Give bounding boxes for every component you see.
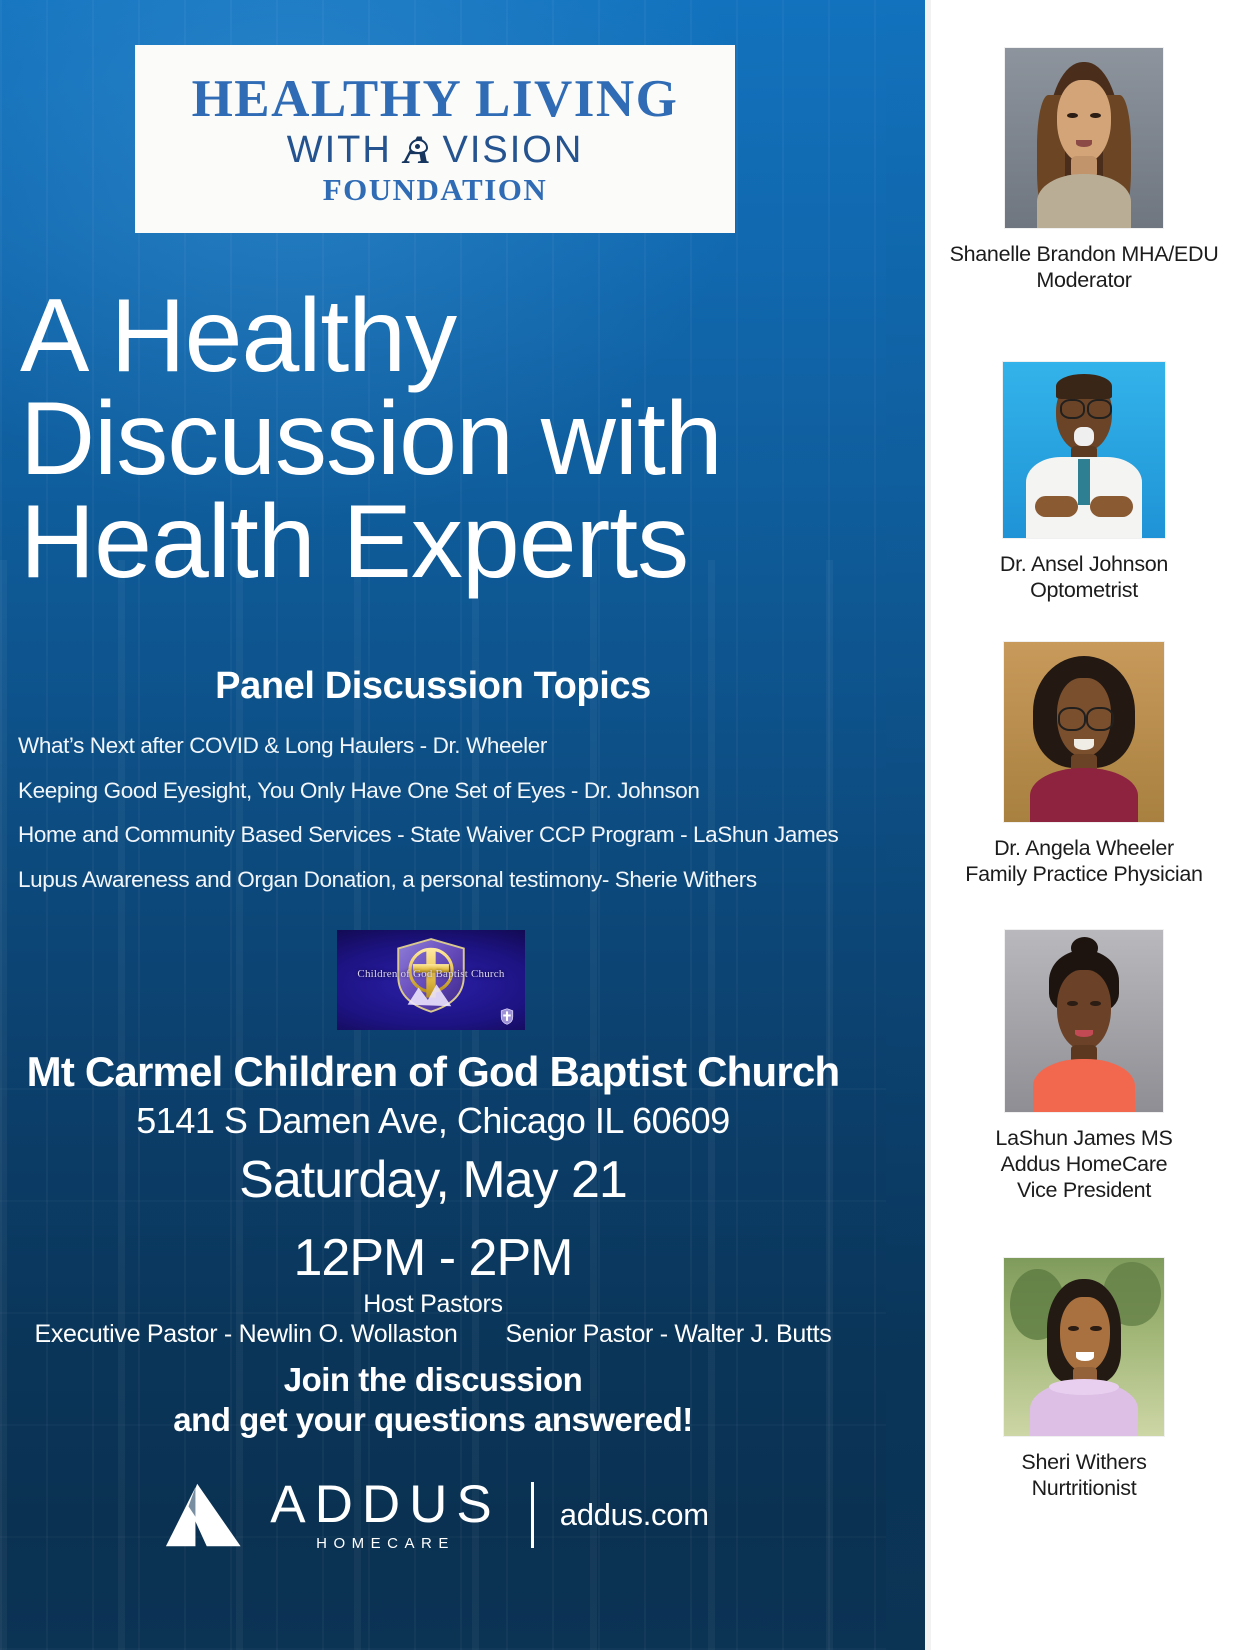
venue-name: Mt Carmel Children of God Baptist Church	[0, 1048, 866, 1096]
panelist-name: Dr. Angela Wheeler Family Practice Physi…	[931, 835, 1237, 887]
sponsor-wordmark: ADDUS HOMECARE	[261, 1478, 501, 1551]
page-title: A Healthy Discussion with Health Experts	[20, 285, 860, 594]
addus-triangle-icon	[157, 1482, 253, 1548]
venue-address: 5141 S Damen Ave, Chicago IL 60609	[0, 1100, 866, 1142]
panelist-name-text: Dr. Ansel Johnson	[931, 551, 1237, 577]
senior-pastor: Senior Pastor - Walter J. Butts	[506, 1320, 832, 1349]
headline-line-2: Discussion with	[20, 388, 860, 491]
panelist-role-line2: Vice President	[931, 1177, 1237, 1203]
avatar	[1004, 1258, 1164, 1436]
topic-item: Lupus Awareness and Organ Donation, a pe…	[18, 869, 868, 892]
avatar	[1005, 930, 1163, 1112]
sponsor-url[interactable]: addus.com	[560, 1497, 709, 1533]
panelist-name: Dr. Ansel Johnson Optometrist	[931, 551, 1237, 603]
sponsor-logo: ADDUS HOMECARE addus.com	[0, 1478, 866, 1551]
panelist-name-text: Dr. Angela Wheeler	[931, 835, 1237, 861]
sidebar-accent-strip	[886, 0, 925, 1650]
panelist-role-text: Optometrist	[931, 577, 1237, 603]
avatar	[1005, 48, 1163, 228]
panelist-name: LaShun James MS Addus HomeCare Vice Pres…	[931, 1125, 1237, 1204]
cta-line-1: Join the discussion	[0, 1360, 866, 1400]
event-flyer: HEALTHY LIVING WITH A VISION FOUNDATION …	[0, 0, 1237, 1650]
sponsor-tagline: HOMECARE	[307, 1536, 455, 1551]
church-logo: Children of God Baptist Church	[337, 930, 525, 1030]
headline-discussion: Discussion	[20, 381, 513, 497]
panelists-sidebar: Shanelle Brandon MHA/EDU Moderator	[886, 0, 1237, 1650]
sponsor-divider	[531, 1482, 534, 1548]
panelist-role-text: Nurtritionist	[931, 1475, 1237, 1501]
avatar	[1004, 642, 1164, 822]
eye-a-icon: A	[402, 130, 433, 170]
panelist-role-text: Moderator	[931, 267, 1237, 293]
panelist-card: Dr. Angela Wheeler Family Practice Physi…	[931, 642, 1237, 887]
church-small-shield-icon	[500, 1008, 514, 1025]
panelist-name: Sheri Withers Nurtritionist	[931, 1449, 1237, 1501]
topic-item: What’s Next after COVID & Long Haulers -…	[18, 735, 868, 758]
panelist-name: Shanelle Brandon MHA/EDU Moderator	[931, 241, 1237, 293]
headline-with: with	[541, 381, 722, 497]
foundation-logo-line3: FOUNDATION	[323, 174, 548, 205]
cta-line-2: and get your questions answered!	[0, 1400, 866, 1440]
panelist-role-text: Family Practice Physician	[931, 861, 1237, 887]
call-to-action: Join the discussion and get your questio…	[0, 1360, 866, 1439]
church-logo-name: Children of God Baptist Church	[337, 968, 525, 980]
executive-pastor: Executive Pastor - Newlin O. Wollaston	[34, 1320, 457, 1349]
foundation-logo-line2: WITH A VISION	[287, 130, 584, 170]
panelist-name-text: LaShun James MS	[931, 1125, 1237, 1151]
topic-item: Keeping Good Eyesight, You Only Have One…	[18, 780, 868, 803]
topics-heading: Panel Discussion Topics	[0, 665, 866, 708]
host-pastors-label: Host Pastors	[0, 1290, 866, 1319]
topic-item: Home and Community Based Services - Stat…	[18, 824, 868, 847]
panelist-card: LaShun James MS Addus HomeCare Vice Pres…	[931, 930, 1237, 1204]
panelist-card: Sheri Withers Nurtritionist	[931, 1258, 1237, 1501]
headline-line-3: Health Experts	[20, 491, 860, 594]
avatar	[1003, 362, 1165, 538]
panelist-name-text: Sheri Withers	[931, 1449, 1237, 1475]
foundation-logo-with: WITH	[287, 131, 392, 169]
foundation-logo-line1: HEALTHY LIVING	[192, 73, 679, 126]
panelist-card: Dr. Ansel Johnson Optometrist	[931, 362, 1237, 603]
foundation-logo: HEALTHY LIVING WITH A VISION FOUNDATION	[135, 45, 735, 233]
sponsor-name: ADDUS	[261, 1478, 501, 1531]
host-pastors-list: Executive Pastor - Newlin O. Wollaston S…	[0, 1320, 866, 1349]
event-time: 12PM - 2PM	[0, 1228, 866, 1288]
panelist-role-line1: Addus HomeCare	[931, 1151, 1237, 1177]
headline-line-1: A Healthy	[20, 285, 860, 388]
panelist-name-text: Shanelle Brandon MHA/EDU	[931, 241, 1237, 267]
event-date: Saturday, May 21	[0, 1150, 866, 1210]
panelists-list: Shanelle Brandon MHA/EDU Moderator	[931, 0, 1237, 1650]
foundation-logo-vision: VISION	[442, 131, 583, 169]
topics-list: What’s Next after COVID & Long Haulers -…	[18, 735, 868, 913]
panelist-card: Shanelle Brandon MHA/EDU Moderator	[931, 48, 1237, 293]
